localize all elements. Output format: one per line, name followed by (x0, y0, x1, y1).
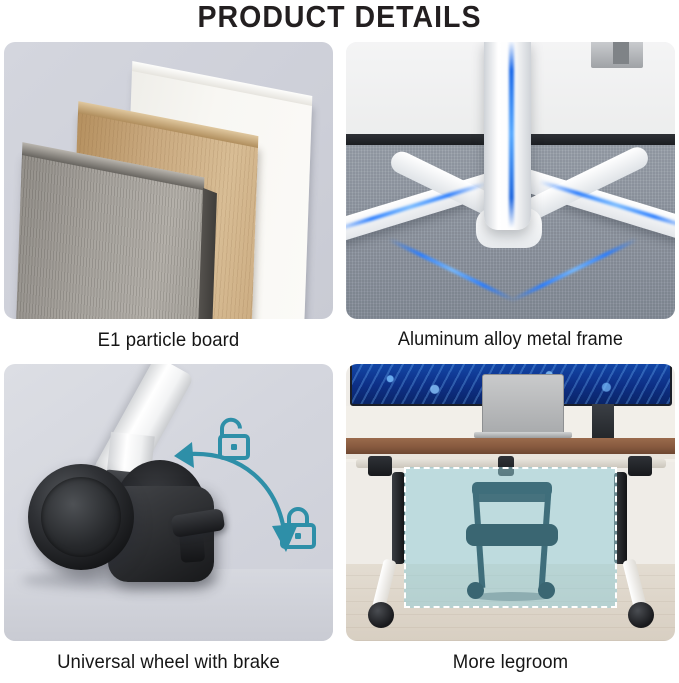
gray-board (14, 154, 204, 319)
laptop (482, 374, 564, 434)
caster-wheel-inner (41, 477, 121, 557)
details-grid: E1 particle board (0, 42, 679, 672)
detail-cell-particle-board: E1 particle board (4, 42, 333, 361)
product-details-page: PRODUCT DETAILS E1 particle board (0, 0, 679, 673)
desk-caster-right (628, 602, 654, 628)
caster-wheel-front (28, 464, 134, 570)
chair-seat (466, 524, 558, 546)
chair-caster-right (538, 582, 555, 599)
detail-cell-more-legroom: More legroom (346, 364, 675, 683)
desk-caster-left (368, 602, 394, 628)
caption-particle-board: E1 particle board (12, 319, 325, 361)
chair-backrest-lower (476, 494, 548, 502)
universal-wheel-image (4, 364, 333, 641)
metal-frame-image (346, 42, 675, 319)
desk-top (346, 438, 675, 454)
caption-metal-frame: Aluminum alloy metal frame (354, 319, 667, 361)
detail-cell-universal-wheel: Universal wheel with brake (4, 364, 333, 683)
page-title: PRODUCT DETAILS (27, 0, 652, 35)
monitor-stand (592, 404, 614, 438)
post-blue-highlight (509, 42, 514, 228)
desk-bracket-left (368, 456, 392, 476)
lock-icon (276, 504, 320, 550)
caption-universal-wheel: Universal wheel with brake (12, 641, 325, 683)
white-board-edge (132, 61, 312, 106)
chair (464, 482, 559, 597)
desk-bracket-right (628, 456, 652, 476)
unlock-icon (210, 416, 254, 462)
particle-board-image (4, 42, 333, 319)
more-legroom-image (346, 364, 675, 641)
chair-caster-left (467, 582, 484, 599)
wall-object-inner (613, 42, 629, 64)
center-post (484, 42, 531, 230)
caption-more-legroom: More legroom (354, 641, 667, 683)
detail-cell-metal-frame: Aluminum alloy metal frame (346, 42, 675, 361)
